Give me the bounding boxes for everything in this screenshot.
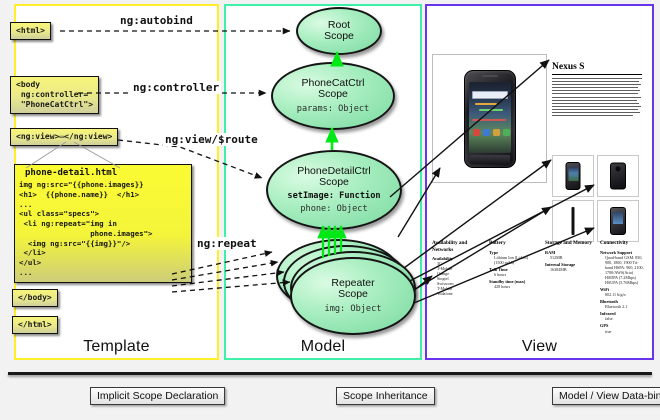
thumb-angle-icon	[610, 207, 626, 235]
app-icon-4	[503, 129, 510, 136]
spec-column-storage: Storage and Memory RAM 512MB Internal St…	[545, 240, 595, 272]
view-title-rule	[552, 74, 642, 75]
view-description-text	[552, 78, 642, 118]
body-close-tag: </body>	[12, 289, 58, 307]
thumbnail-phone-angle[interactable]	[597, 200, 639, 242]
green-arrow-icon	[264, 386, 330, 406]
legend-label-data-binding: Model / View Data-binding	[552, 387, 660, 405]
phone-detail-code-note: phone-detail.html img ng:src="{{phone.im…	[14, 164, 192, 283]
view-rendered-page: Nexus S Availability and Networks Avai	[432, 12, 644, 332]
spec-value-infrared: false	[600, 316, 646, 321]
root-scope: Root Scope	[296, 7, 382, 55]
repeater-scope-property: img: Object	[325, 304, 382, 314]
thumb-edge-icon	[572, 207, 575, 235]
spec-value-talk-time: 6 hours	[489, 272, 539, 277]
spec-value-ram: 512MB	[545, 255, 595, 260]
app-icon-1	[473, 129, 480, 136]
phonecatctrl-scope-title-line2: Scope	[318, 89, 348, 100]
phonedetailctrl-scope-property-phone: phone: Object	[300, 204, 367, 214]
root-scope-title-line2: Scope	[324, 31, 354, 42]
phone-hero-image	[432, 54, 547, 183]
spec-column-battery: Battery Type Lithium Ion (Li-Ion) (1500 …	[489, 240, 539, 289]
html-close-tag: </html>	[12, 316, 58, 334]
screen-line-2	[479, 109, 503, 111]
app-icon-2	[483, 129, 490, 136]
spec-value-network-5: HSUPA (5.76Mbps)	[600, 280, 646, 285]
spec-value-gps: true	[600, 329, 646, 334]
legend-scope-inheritance: Scope Inheritance	[264, 386, 435, 406]
legend-label-scope-inheritance: Scope Inheritance	[336, 387, 435, 405]
code-note-body: img ng:src="{{phone.images}} <h1> {{phon…	[15, 180, 191, 282]
spec-heading-battery: Battery	[489, 240, 539, 247]
spec-value-bluetooth: Bluetooth 2.1	[600, 304, 646, 309]
double-arrow-icon	[480, 386, 546, 406]
legend-data-binding: Model / View Data-binding	[480, 386, 660, 406]
phonecatctrl-scope-property: params: Object	[297, 104, 369, 114]
repeater-scope: Repeater Scope img: Object	[290, 257, 416, 335]
phone-illustration	[464, 70, 516, 168]
legend-label-implicit-scope-declaration: Implicit Scope Declaration	[90, 387, 225, 405]
view-page-title: Nexus S	[552, 62, 584, 72]
spec-value-availability-6: Vodafone	[432, 291, 482, 296]
spec-column-availability: Availability and Networks Availability 3…	[432, 240, 482, 296]
thumbnail-phone-back[interactable]	[597, 155, 639, 197]
spec-value-internal-storage: 16384MB	[545, 267, 595, 272]
html-open-tag: <html>	[10, 22, 51, 40]
edge-label-ng-view-route: ng:view/$route	[163, 133, 260, 146]
panel-template-label: Template	[16, 338, 217, 356]
spec-column-connectivity: Connectivity Network Support Quad-band G…	[600, 240, 646, 334]
thumb-front-icon	[566, 162, 581, 190]
thumbnail-phone-front[interactable]	[552, 155, 594, 197]
thumbnail-phone-edge[interactable]	[552, 200, 594, 242]
code-note-title: phone-detail.html	[15, 165, 191, 180]
repeater-scope-title-line2: Scope	[338, 289, 368, 300]
phonecatctrl-scope: PhoneCatCtrl Scope params: Object	[271, 62, 395, 130]
ng-view-tag: <ng:view>▭</ng:view>	[10, 128, 118, 146]
phone-speaker	[482, 75, 498, 77]
legend-divider	[8, 372, 652, 375]
spec-heading-storage: Storage and Memory	[545, 240, 595, 247]
phone-screen	[469, 82, 511, 153]
spec-value-network-2: band HSPA: 900, 2100,	[600, 265, 646, 270]
thumb-back-icon	[610, 163, 626, 190]
spec-value-network-0: Quad-band GSM: 850,	[600, 255, 646, 260]
phone-search-bar	[472, 91, 508, 99]
edge-label-ng-repeat: ng:repeat	[195, 237, 259, 250]
panel-view-label: View	[427, 338, 652, 356]
dashed-arrow-icon	[18, 386, 84, 406]
spec-heading-connectivity: Connectivity	[600, 240, 646, 247]
edge-label-ng-autobind: ng:autobind	[118, 14, 195, 27]
phone-home-bar	[470, 155, 510, 164]
panel-model-label: Model	[226, 338, 420, 356]
screen-line-1	[475, 103, 497, 105]
spec-value-standby-time: 428 hours	[489, 284, 539, 289]
legend-implicit-scope-declaration: Implicit Scope Declaration	[18, 386, 225, 406]
phonedetailctrl-scope-property-setimage: setImage: Function	[287, 191, 380, 201]
phonedetailctrl-scope-title-line2: Scope	[319, 177, 349, 188]
spec-value-battery-type-1: (1500 mAh)	[489, 260, 539, 265]
spec-value-wifi: 802.11 b/g/n	[600, 292, 646, 297]
app-icon-3	[493, 129, 500, 136]
screen-line-3	[472, 119, 506, 121]
phonedetailctrl-scope: PhoneDetailCtrl Scope setImage: Function…	[266, 150, 402, 230]
body-open-tag: <body ng:controller= "PhoneCatCtrl">	[10, 76, 99, 114]
spec-heading-availability: Availability and Networks	[432, 240, 482, 253]
diagram-canvas: Template <html> <body ng:controller= "Ph…	[0, 0, 660, 420]
edge-label-ng-controller: ng:controller	[131, 81, 221, 94]
legend: Implicit Scope Declaration Scope Inherit…	[0, 372, 660, 420]
